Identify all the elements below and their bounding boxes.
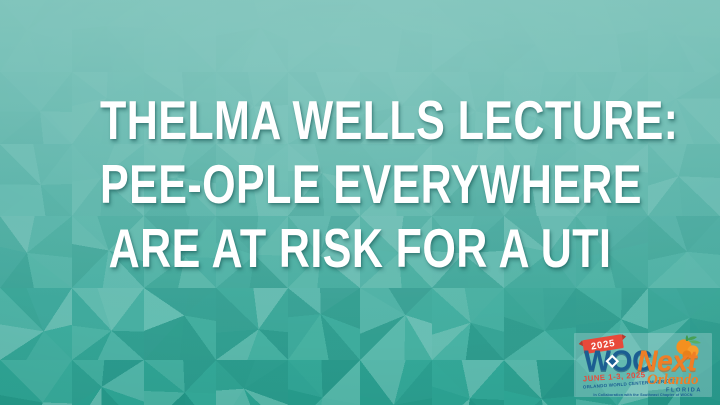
title-line-2: PEE-OPLE EVERYWHERE [100, 152, 620, 216]
location-city: Orlando [647, 372, 699, 388]
wocnext-logo-graphic: 2025 WOC WOC Next Next [574, 333, 712, 397]
wocnext-logo: 2025 WOC WOC Next Next [574, 333, 712, 397]
collaboration-note: In Collaboration with the Southeast Chap… [593, 393, 692, 397]
title-line-1: THELMA WELLS LECTURE: [100, 88, 620, 152]
slide-canvas: THELMA WELLS LECTURE: PEE-OPLE EVERYWHER… [0, 0, 720, 405]
title-line-3: ARE AT RISK FOR A UTI [100, 216, 620, 280]
page-title: THELMA WELLS LECTURE: PEE-OPLE EVERYWHER… [0, 88, 720, 280]
